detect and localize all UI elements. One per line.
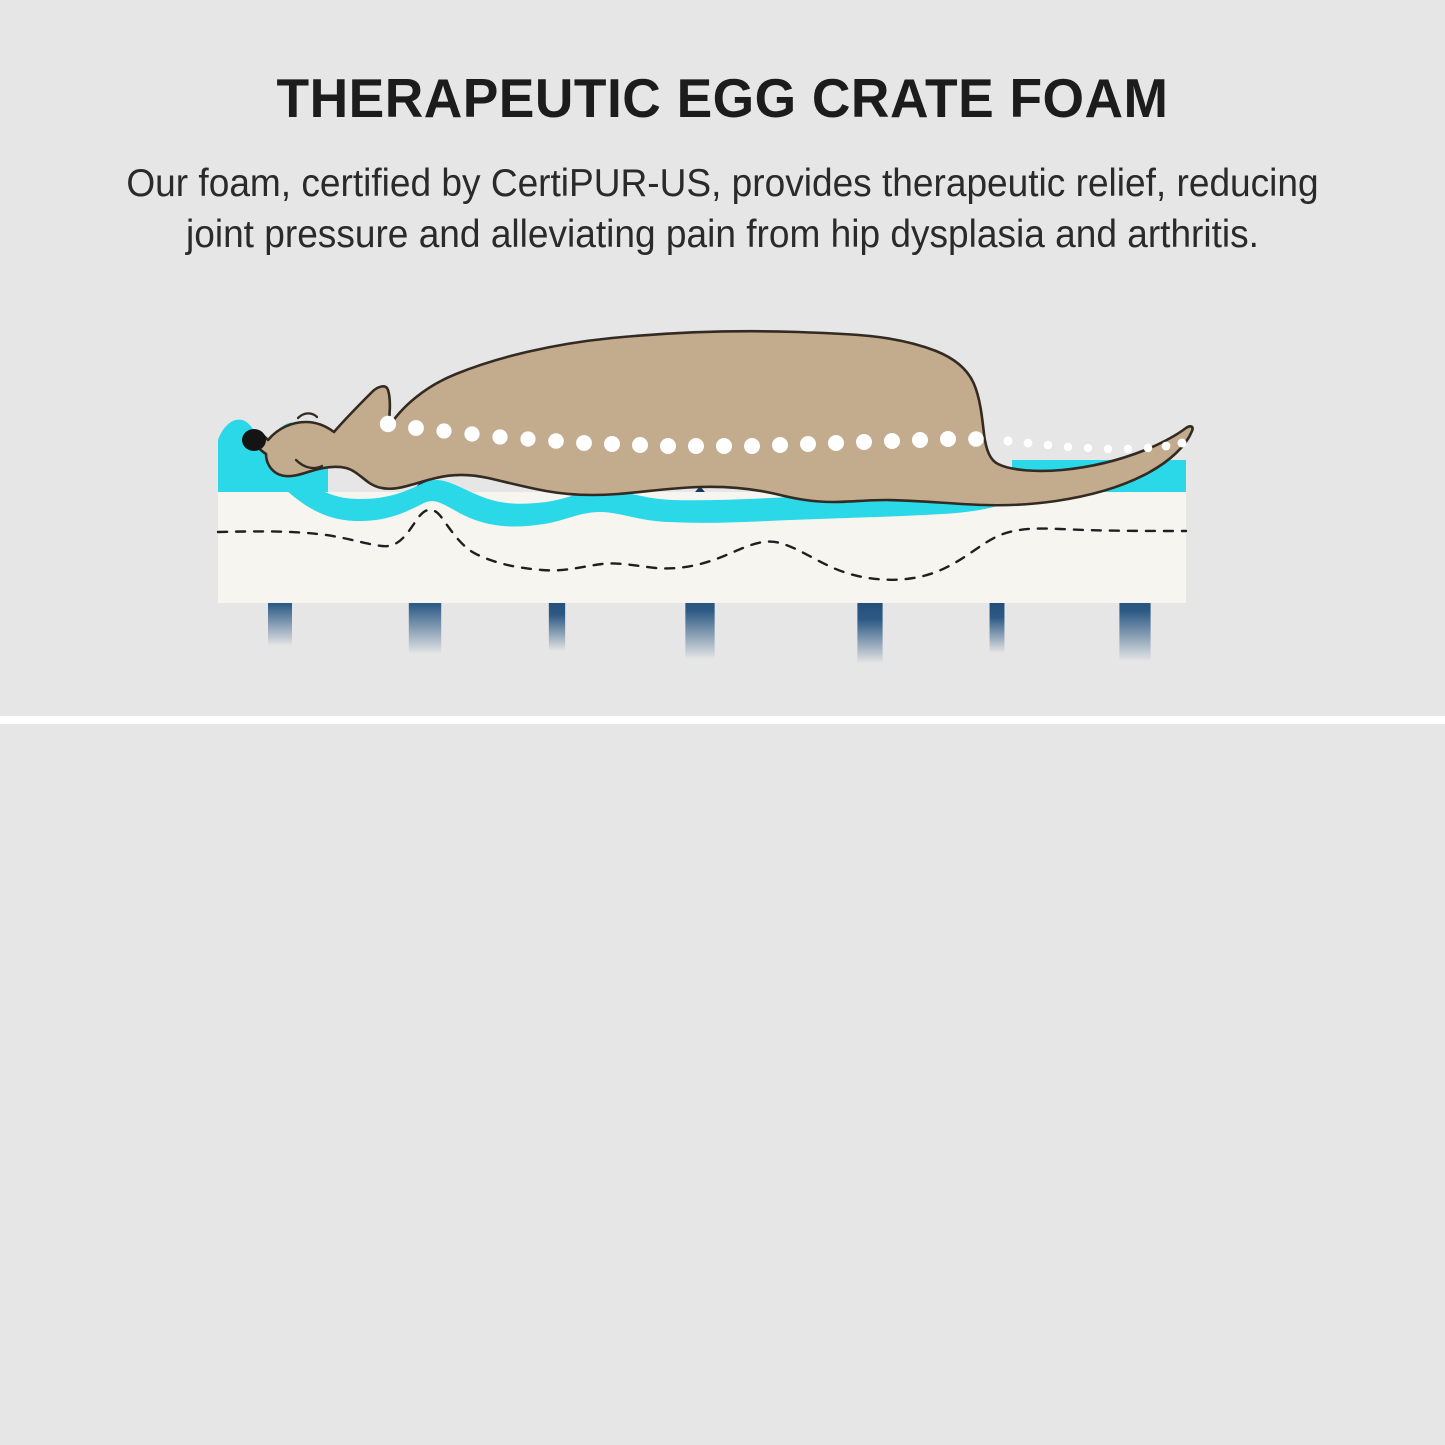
infographic-page: THERAPEUTIC EGG CRATE FOAM Our foam, cer… [0,0,1445,1445]
page-title: THERAPEUTIC EGG CRATE FOAM [22,68,1424,128]
page-subtitle: Our foam, certified by CertiPUR-US, prov… [103,158,1343,260]
section-therapeutic-foam: THERAPEUTIC EGG CRATE FOAM Our foam, cer… [0,0,1445,716]
section-divider [0,716,1445,724]
dog-nose [242,429,266,451]
dog-closed-eye [298,413,317,418]
dog-silhouette-lying [242,331,1193,505]
section-improved-ventilation: IMPROVED VENTILATION [0,724,1445,1445]
foam-cross-section-illustration [150,300,1300,700]
